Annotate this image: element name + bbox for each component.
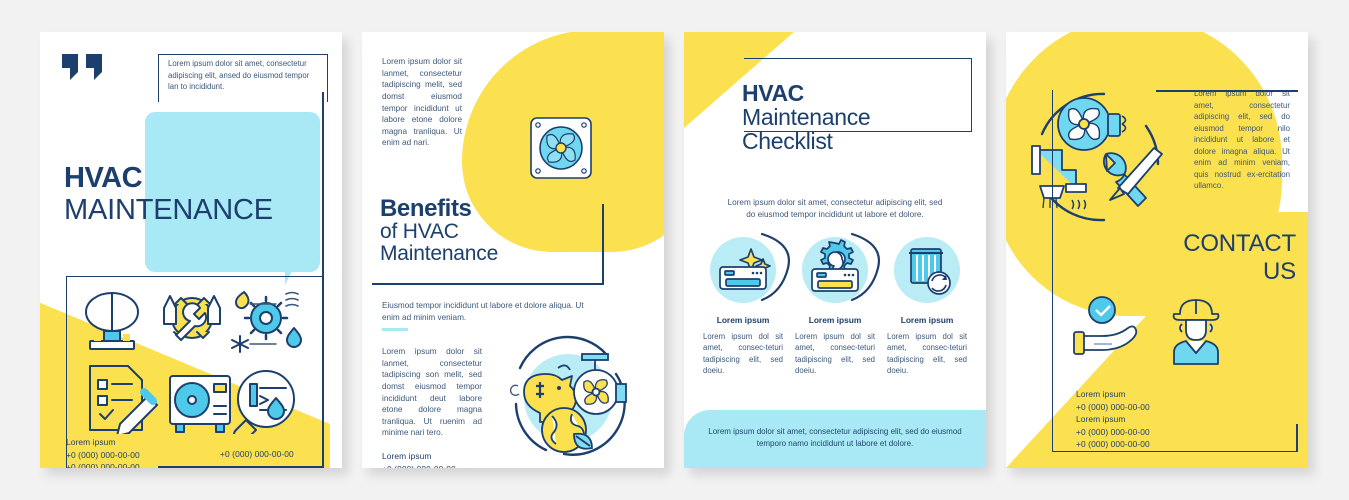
card-icon-circle: [894, 237, 960, 303]
title-line-2: Maintenance: [742, 106, 942, 130]
title-line-3: Checklist: [742, 130, 942, 154]
contact-phone-1[interactable]: +0 (000) 000-00-00: [66, 449, 140, 462]
title-line-1: CONTACT: [1136, 232, 1296, 256]
quote-mark-icon: [60, 52, 106, 82]
card-body: Lorem ipsum dol sit amet, consec-teturi …: [792, 331, 878, 376]
contact-phone-1[interactable]: +0 (000) 000-00-00: [1076, 401, 1150, 414]
checklist-card[interactable]: Lorem ipsum Lorem ipsum dol sit amet, co…: [700, 237, 786, 376]
icon-frame-bottom-border: [158, 466, 324, 468]
checklist-cards: Lorem ipsum Lorem ipsum dol sit amet, co…: [700, 237, 972, 376]
brochure-page-benefits[interactable]: Lorem ipsum dolor sit lanmet, consectetu…: [362, 32, 664, 468]
title-line-2: of HVAC: [380, 221, 580, 242]
hand-check-icon: [1074, 297, 1136, 354]
title-bottom-rule: [372, 283, 604, 285]
intro-text: Lorem ipsum dolor sit amet, consectetur …: [168, 58, 320, 93]
contact-icons: [1072, 294, 1242, 374]
worker-helmet-icon: [1174, 300, 1219, 364]
intro-text: Lorem ipsum dolor sit lanmet, consectetu…: [382, 56, 462, 149]
checklist-card[interactable]: Lorem ipsum Lorem ipsum dol sit amet, co…: [884, 237, 970, 376]
gear-wrench-airflow-icon: [164, 296, 220, 340]
divider-dash: [382, 328, 408, 331]
contact-phone-2[interactable]: +0 (000) 000-00-00: [66, 461, 140, 468]
checklist-pencil-icon: [90, 366, 157, 434]
page-title: HVAC Maintenance Checklist: [742, 82, 942, 154]
column-text: Lorem ipsum dolor sit lanmet, consectetu…: [382, 346, 482, 439]
contact-label-1: Lorem ipsum: [1076, 388, 1150, 401]
benefits-icon-cluster: [502, 330, 634, 462]
contact-block-left: Lorem ipsum +0 (000) 000-00-00 +0 (000) …: [66, 436, 140, 468]
page-title: HVAC MAINTENANCE: [64, 164, 334, 225]
card-heading: Lorem ipsum: [792, 315, 878, 325]
checklist-card[interactable]: Lorem ipsum Lorem ipsum dol sit amet, co…: [792, 237, 878, 376]
air-conditioner-unit-icon: [170, 376, 230, 432]
card-icon-circle: [710, 237, 776, 303]
cooling-fan-icon: [530, 117, 592, 179]
filter-replace-icon: [894, 237, 960, 303]
page-subtitle: Lorem ipsum dolor sit amet, consectetur …: [724, 197, 946, 222]
contact-label-2: Lorem ipsum: [1076, 413, 1150, 426]
sparkling-ac-unit-icon: [710, 237, 776, 303]
brochure-page-cover[interactable]: Lorem ipsum dolor sit amet, consectetur …: [40, 32, 342, 468]
title-line-2: US: [1136, 260, 1296, 284]
card-body: Lorem ipsum dol sit amet, consec-teturi …: [700, 331, 786, 376]
card-heading: Lorem ipsum: [884, 315, 970, 325]
title-line-1: HVAC: [64, 164, 334, 193]
page-right-border: [322, 92, 324, 468]
title-line-2: MAINTENANCE: [64, 196, 334, 225]
contact-phone-right[interactable]: +0 (000) 000-00-00: [220, 448, 294, 461]
boiler-tank-icon: [86, 293, 138, 349]
ac-gear-wrench-icon: [802, 237, 868, 303]
title-line-3: Maintenance: [380, 243, 580, 264]
title-right-rule: [602, 204, 604, 284]
page-title: CONTACT US: [1136, 232, 1296, 284]
content-frame-top-border: [1156, 90, 1298, 92]
contact-label: Lorem ipsum: [382, 450, 456, 463]
contact-phone-1[interactable]: +0 (000) 000-00-00: [382, 463, 456, 468]
contact-label: Lorem ipsum: [66, 436, 140, 449]
brochure-page-contact[interactable]: Lorem ipsum dolor sit amet, consectetur …: [1006, 32, 1308, 468]
contact-block: Lorem ipsum +0 (000) 000-00-00 Lorem ips…: [1076, 388, 1150, 451]
lead-text: Eiusmod tempor incididunt ut labore et d…: [382, 300, 597, 324]
card-icon-circle: [802, 237, 868, 303]
brochure-page-checklist[interactable]: HVAC Maintenance Checklist Lorem ipsum d…: [684, 32, 986, 468]
magnifier-droplet-icon: [234, 371, 294, 434]
contact-phone-2[interactable]: +0 (000) 000-00-00: [1076, 426, 1150, 439]
card-body: Lorem ipsum dol sit amet, consec-teturi …: [884, 331, 970, 376]
content-frame-right-border: [1296, 424, 1298, 452]
hvac-icon-grid: [80, 284, 310, 434]
title-line-1: Benefits: [380, 197, 580, 221]
flame-snowflake-gear-droplet-icon: [232, 292, 301, 352]
footer-text: Lorem ipsum dolor sit amet, consectetur …: [706, 426, 964, 450]
contact-phone-3[interactable]: +0 (000) 000-00-00: [1076, 438, 1150, 451]
page-title: Benefits of HVAC Maintenance: [380, 197, 580, 264]
contact-block: Lorem ipsum +0 (000) 000-00-00: [382, 450, 456, 468]
title-line-1: HVAC: [742, 82, 942, 106]
card-heading: Lorem ipsum: [700, 315, 786, 325]
footer-banner: Lorem ipsum dolor sit amet, consectetur …: [684, 410, 986, 468]
